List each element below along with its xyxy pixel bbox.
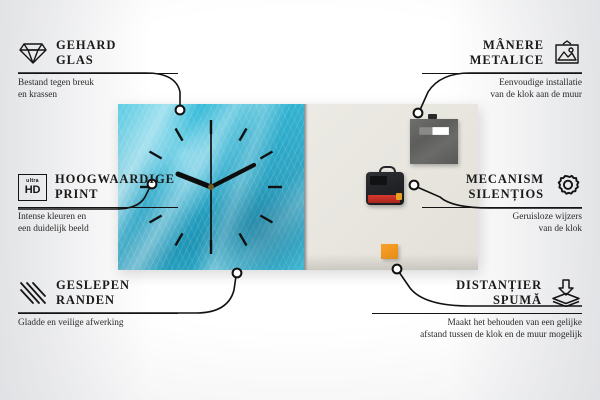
picture-frame-icon (552, 40, 582, 66)
callout-header: ultra HD HOOGWAARDIGE PRINT (18, 172, 178, 203)
callout-title: DISTANȚIER SPUMĂ (456, 278, 542, 309)
callout-title: HOOGWAARDIGE PRINT (55, 172, 175, 203)
callout-rule (372, 313, 582, 314)
callout-title: GESLEPEN RANDEN (56, 278, 130, 309)
callout-description: Gladde en veilige afwerking (18, 317, 178, 329)
callout-title: MÂNERE METALICE (470, 38, 544, 69)
callout-header: DISTANȚIER SPUMĂ (372, 278, 582, 309)
callout-title: GEHARD GLAS (56, 38, 116, 69)
callout-mecanism-silentios[interactable]: MECANISM SILENȚIOS Geruisloze wijzers va… (422, 172, 582, 235)
callout-rule (422, 73, 582, 74)
gear-icon (552, 173, 582, 201)
callout-rule (422, 207, 582, 208)
callout-rule (18, 73, 178, 74)
callout-gehard-glas[interactable]: GEHARD GLAS Bestand tegen breuk en krass… (18, 38, 178, 101)
callout-description: Eenvoudige installatie van de klok aan d… (422, 77, 582, 102)
ultra-hd-icon: ultra HD (18, 174, 47, 201)
callout-description: Geruisloze wijzers van de klok (422, 211, 582, 236)
callout-rule (18, 207, 178, 208)
callout-description: Maakt het behouden van een gelijke afsta… (372, 317, 582, 342)
battery-terminal (396, 193, 402, 200)
callout-distantier-spuma[interactable]: DISTANȚIER SPUMĂ Maakt het behouden van … (372, 278, 582, 341)
callout-manere-metalice[interactable]: MÂNERE METALICE Eenvoudige installatie v… (422, 38, 582, 101)
glass-edge (304, 104, 308, 270)
metal-hanger-plate (410, 119, 458, 164)
callout-geslepen-randen[interactable]: GESLEPEN RANDEN Gladde en veilige afwerk… (18, 278, 178, 329)
back-panel-shadow (304, 254, 478, 270)
callout-header: MÂNERE METALICE (422, 38, 582, 69)
infographic-canvas: GEHARD GLAS Bestand tegen breuk en krass… (0, 0, 600, 400)
callout-header: GEHARD GLAS (18, 38, 178, 69)
beveled-edges-icon (18, 280, 48, 306)
callout-title: MECANISM SILENȚIOS (466, 172, 544, 203)
diamond-icon (18, 40, 48, 66)
callout-rule (18, 313, 178, 314)
callout-hoogwaardige-print[interactable]: ultra HD HOOGWAARDIGE PRINT Intense kleu… (18, 172, 178, 235)
mechanism-slot (370, 176, 387, 185)
callout-description: Intense kleuren en een duidelijk beeld (18, 211, 178, 236)
foam-spacer-icon (550, 279, 582, 307)
callout-header: MECANISM SILENȚIOS (422, 172, 582, 203)
callout-header: GESLEPEN RANDEN (18, 278, 178, 309)
callout-description: Bestand tegen breuk en krassen (18, 77, 178, 102)
